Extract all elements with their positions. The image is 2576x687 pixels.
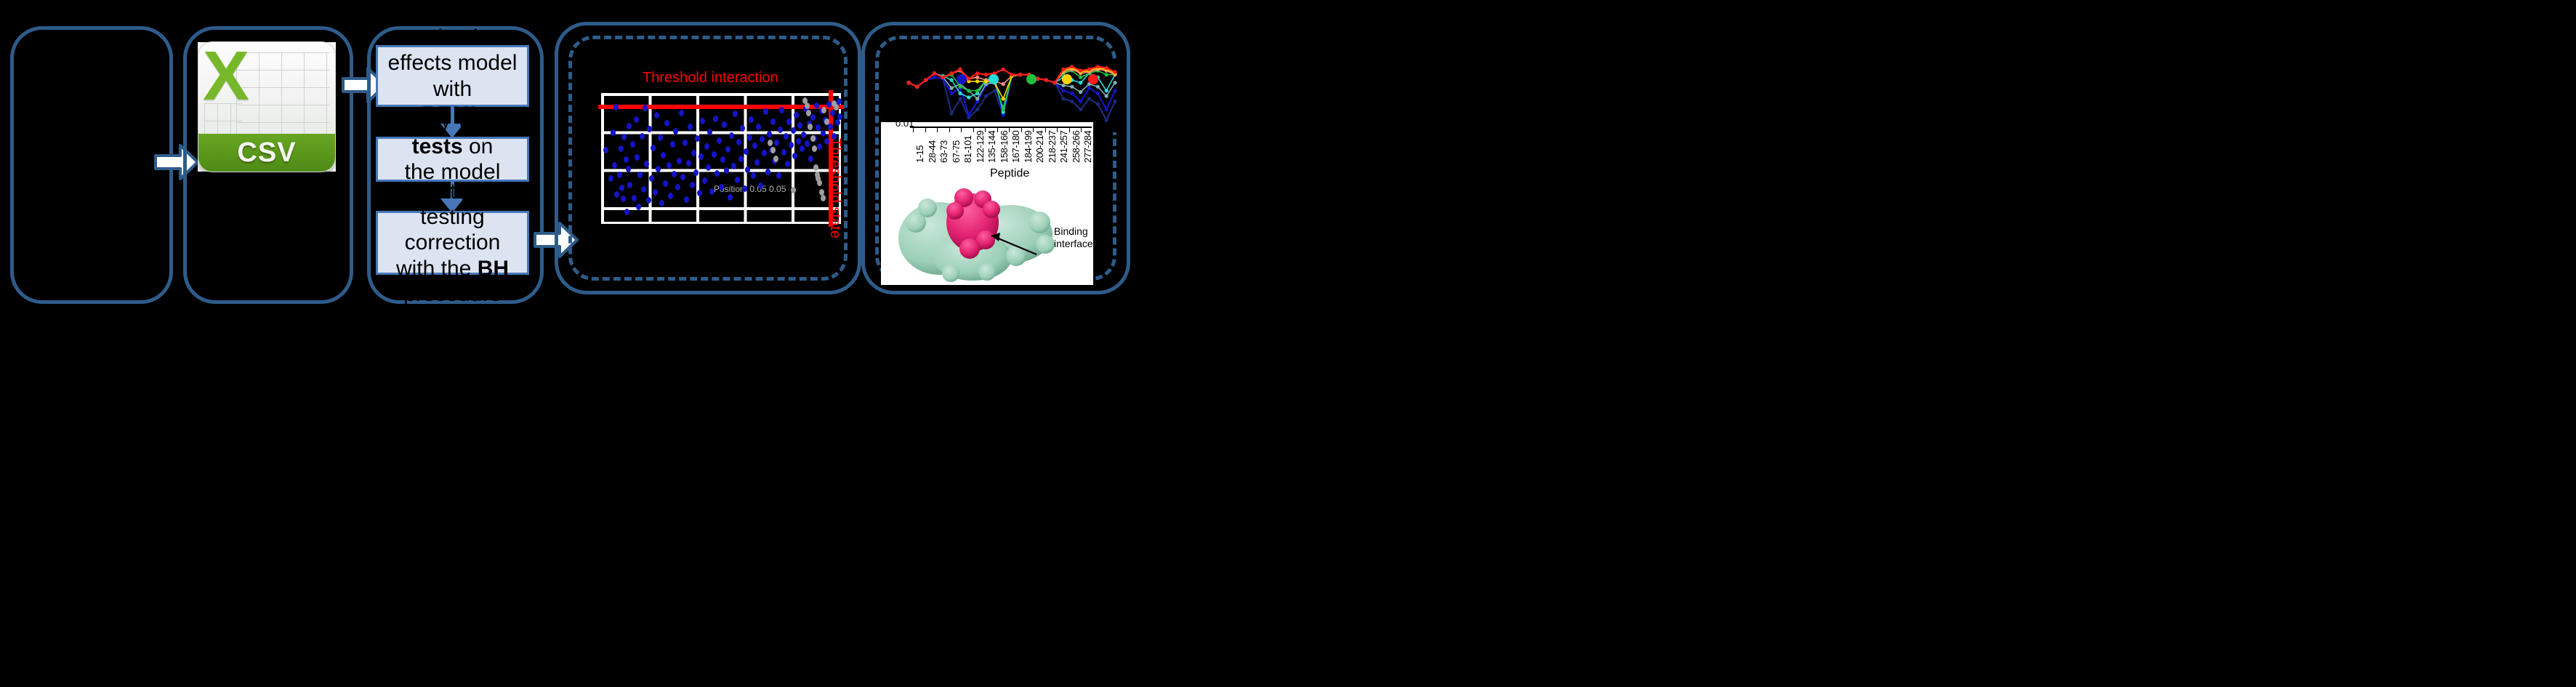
scatter-point xyxy=(791,127,796,134)
scatter-point xyxy=(728,194,733,201)
scatter-point xyxy=(656,166,661,172)
peptide-series-marker xyxy=(1105,108,1108,111)
peptide-series-marker xyxy=(915,85,919,89)
csv-file-card: X CSV xyxy=(198,42,336,172)
scatter-point xyxy=(767,131,772,137)
peptide-tick-label: 277-284 xyxy=(1082,131,1093,163)
scatter-point xyxy=(758,182,763,189)
peptide-series-marker xyxy=(967,89,970,92)
scatter-point xyxy=(712,151,717,158)
peptide-series-marker xyxy=(1061,68,1065,71)
peptide-series-marker xyxy=(984,73,988,76)
peptide-tick-label: 184-199 xyxy=(1023,131,1034,163)
peptide-series-marker xyxy=(975,71,979,75)
scatter-point xyxy=(765,169,770,175)
peptide-tick-mark xyxy=(1081,128,1082,132)
scatter-point xyxy=(614,191,619,198)
peptide-series-marker xyxy=(950,92,954,95)
peptide-tick-mark xyxy=(1021,128,1022,132)
peptide-series-marker xyxy=(975,79,979,83)
scatter-point xyxy=(659,200,664,206)
legend-dot-yellow xyxy=(1062,74,1072,84)
scatter-point xyxy=(740,125,745,132)
peptide-tick-label: 158-166 xyxy=(999,131,1010,163)
csv-x-glyph: X xyxy=(203,47,249,107)
panel-1-empty xyxy=(10,26,173,304)
scatter-point xyxy=(697,190,702,196)
scatter-point xyxy=(816,124,821,131)
peptide-series-marker xyxy=(1113,89,1116,92)
scatter-point xyxy=(627,123,632,129)
scatter-point xyxy=(691,150,696,156)
scatter-point xyxy=(613,104,619,111)
peptide-series-marker xyxy=(975,76,979,79)
scatter-point xyxy=(784,133,789,140)
peptide-tick-label: 200-214 xyxy=(1034,131,1045,163)
peptide-series-marker xyxy=(984,95,988,98)
binding-interface-line1: Binding xyxy=(1054,225,1093,238)
scatter-point xyxy=(830,110,835,116)
scatter-point xyxy=(619,185,624,191)
scatter-point xyxy=(693,169,699,176)
scatter-point xyxy=(717,137,722,144)
scatter-point xyxy=(720,156,725,163)
threshold-state-label: Threshold state xyxy=(826,138,843,238)
figure-canvas: X CSV Fit a linear mixed- effects model … xyxy=(0,0,2576,687)
scatter-point xyxy=(786,118,792,125)
peptide-series-marker xyxy=(984,79,988,83)
threshold-interaction-label: Threshold interaction xyxy=(643,70,778,87)
legend-dot-red xyxy=(1088,74,1098,84)
peptide-tick-label: 81-101 xyxy=(962,136,973,163)
peptide-series-marker xyxy=(1079,69,1082,73)
scatter-point xyxy=(670,141,675,148)
scatter-point xyxy=(824,118,829,125)
peptide-series-marker xyxy=(1105,89,1108,92)
peptide-profile-chart xyxy=(895,60,1121,132)
peptide-series-marker xyxy=(1105,66,1108,70)
peptide-series-marker xyxy=(993,89,997,92)
fit-model-box[interactable]: Fit a linear mixed- effects model with R… xyxy=(376,45,529,107)
peptide-series-marker xyxy=(933,76,936,79)
peptide-tick-label: 167-180 xyxy=(1010,131,1021,163)
peptide-series-marker xyxy=(975,108,979,111)
scatter-point xyxy=(729,132,734,139)
peptide-series-marker xyxy=(1002,97,1005,100)
peptide-series-marker xyxy=(1105,95,1108,98)
scatter-point xyxy=(808,124,813,130)
peptide-series-marker xyxy=(1079,108,1082,111)
scatter-point xyxy=(742,185,747,192)
peptide-series-marker xyxy=(1105,73,1108,76)
peptide-series-marker xyxy=(1105,118,1108,122)
peptide-tick-mark xyxy=(961,128,962,132)
binding-interface-line2: interface xyxy=(1054,238,1093,250)
peptide-series-marker xyxy=(1079,100,1082,103)
scatter-point xyxy=(792,153,797,159)
peptide-series-marker xyxy=(1070,85,1074,89)
scatter-point xyxy=(744,148,749,155)
scatter-point xyxy=(781,149,786,156)
peptide-series-marker xyxy=(967,113,970,116)
peptide-series-marker xyxy=(1045,78,1048,81)
scatter-point xyxy=(699,153,704,160)
scatter-point xyxy=(778,126,783,133)
peptide-series-marker xyxy=(1079,76,1082,79)
scatter-point xyxy=(736,139,741,145)
peptide-series-marker xyxy=(1070,92,1074,95)
peptide-series-marker xyxy=(950,78,954,81)
scatter-point xyxy=(636,204,641,210)
multiple-testing-box[interactable]: Multiple testing correction with the BH … xyxy=(376,211,529,275)
peptide-tick-label: 122-129 xyxy=(975,131,986,163)
peptide-tick-label: 258-266 xyxy=(1071,131,1082,163)
peptide-tick-mark xyxy=(937,128,938,132)
multiple-testing-text: Multiple testing correction with the BH … xyxy=(384,179,521,308)
csv-extension-band: CSV xyxy=(198,134,335,172)
peptide-series-marker xyxy=(941,76,945,79)
peptide-series-marker xyxy=(950,71,954,75)
scatter-point xyxy=(801,132,806,138)
peptide-series-marker xyxy=(1061,89,1065,92)
peptide-series-marker xyxy=(958,85,962,89)
peptide-tick-label: 218-237 xyxy=(1047,131,1058,163)
binding-interface-label: Binding interface xyxy=(1054,225,1093,250)
peptide-tick-label: 63-73 xyxy=(938,140,949,163)
scatter-point xyxy=(713,116,718,122)
peptide-series-marker xyxy=(1113,81,1116,84)
peptide-series-marker xyxy=(1096,92,1100,95)
peptide-series-marker xyxy=(1079,81,1082,84)
peptide-tick-mark xyxy=(985,128,986,132)
peptide-tick-label: 28-44 xyxy=(927,140,938,163)
peptide-series-marker xyxy=(1070,100,1074,103)
scatter-point xyxy=(735,177,740,183)
scatter-point xyxy=(621,134,627,140)
scatter-point xyxy=(747,134,752,141)
peptide-series-marker xyxy=(967,95,970,99)
peptide-tick-mark xyxy=(913,128,914,132)
x-axis-title: Peptide xyxy=(990,167,1029,180)
peptide-series-marker xyxy=(975,97,979,100)
ghost-axis-text: Position: 0.05 0.05 xyxy=(714,184,786,194)
scatter-point xyxy=(663,180,668,187)
peptide-series-marker xyxy=(1096,85,1100,89)
peptide-series-marker xyxy=(933,71,936,75)
legend-dot-green xyxy=(1026,74,1037,84)
scatter-point xyxy=(791,187,796,193)
scatter-point xyxy=(658,134,663,141)
peptide-series-marker xyxy=(1079,90,1082,94)
scatter-point xyxy=(776,172,781,179)
scatter-point xyxy=(810,135,816,142)
peptide-series-marker xyxy=(967,77,970,81)
peptide-tick-mark xyxy=(997,128,998,132)
peptide-series-marker xyxy=(1113,70,1116,73)
peptide-series-marker xyxy=(958,68,962,71)
scatter-point xyxy=(800,145,805,152)
csv-grid-right xyxy=(236,52,329,134)
scatter-point xyxy=(834,104,839,111)
csv-extension-label: CSV xyxy=(237,137,296,169)
peptide-series-marker xyxy=(950,87,954,90)
peptide-series-marker xyxy=(1002,82,1005,86)
scatter-point xyxy=(634,116,639,123)
scatter-point xyxy=(611,129,616,136)
peptide-series-marker xyxy=(1018,73,1022,76)
peptide-series-marker xyxy=(1087,87,1091,90)
peptide-series-marker xyxy=(1002,68,1005,71)
scatter-point xyxy=(754,159,760,166)
peptide-series-marker xyxy=(1002,108,1005,111)
scatter-point xyxy=(679,110,684,116)
peptide-series-marker xyxy=(924,78,927,81)
peptide-series-line xyxy=(909,75,1115,115)
peptide-series-marker xyxy=(1087,68,1091,71)
peptide-tick-mark xyxy=(925,128,926,132)
scatter-point xyxy=(731,163,736,169)
peptide-series-marker xyxy=(975,89,979,92)
scatter-point xyxy=(724,167,729,174)
peptide-series-marker xyxy=(906,81,910,84)
scatter-point xyxy=(719,184,724,190)
peptide-tick-mark xyxy=(1009,128,1010,132)
scatter-point xyxy=(751,172,756,179)
peptide-series-marker xyxy=(950,111,954,115)
peptide-tick-mark xyxy=(1069,128,1070,132)
scatter-point xyxy=(667,162,672,169)
peptide-series-marker xyxy=(1061,97,1065,100)
scatter-point xyxy=(835,119,840,126)
csv-file-icon: X CSV xyxy=(198,41,336,172)
volcano-scatter-plot: Position: 0.05 0.05 xyxy=(601,93,841,224)
peptide-series-marker xyxy=(1070,65,1074,68)
peptide-series-marker xyxy=(1113,100,1116,103)
peptide-series-marker xyxy=(1053,81,1057,84)
peptide-series-marker xyxy=(958,92,962,95)
peptide-series-marker xyxy=(1096,65,1100,68)
scatter-point xyxy=(624,209,629,215)
protein-surface-render xyxy=(894,182,1061,284)
peptide-tick-mark xyxy=(973,128,974,132)
scatter-point xyxy=(630,141,635,148)
peptide-tick-label: 67-75 xyxy=(951,140,962,163)
peptide-axis-and-structure-card: 0.01 1-1528-4463-7367-7581-101122-129135… xyxy=(881,122,1093,285)
peptide-tick-mark xyxy=(1057,128,1058,132)
peptide-tick-mark xyxy=(949,128,950,132)
scatter-point xyxy=(706,164,711,171)
peptide-tick-label: 135-144 xyxy=(986,131,997,163)
scatter-point xyxy=(814,103,819,109)
scatter-point xyxy=(837,113,842,120)
scatter-point xyxy=(641,186,646,193)
peptide-series-marker xyxy=(958,97,962,100)
peptide-series-marker xyxy=(1096,103,1100,106)
peptide-series-marker xyxy=(1087,97,1091,100)
scatter-point xyxy=(789,142,794,148)
scatter-point xyxy=(709,188,715,195)
scatter-point xyxy=(640,133,645,140)
legend-dot-cyan xyxy=(989,74,999,84)
legend-dot-navy xyxy=(957,74,967,84)
scatter-point xyxy=(794,112,799,118)
scatter-point xyxy=(686,160,691,166)
wald-tests-box[interactable]: Apply Wald tests on the model parameters xyxy=(376,137,529,182)
scatter-point xyxy=(738,156,744,162)
scatter-point xyxy=(617,172,622,178)
peptide-series-marker xyxy=(1010,73,1013,76)
scatter-point xyxy=(796,138,801,145)
scatter-point xyxy=(653,189,658,196)
scatter-point xyxy=(649,175,654,182)
scatter-point xyxy=(810,114,816,121)
scatter-point xyxy=(774,140,779,146)
peptide-tick-label: 1-15 xyxy=(914,145,925,163)
scatter-point xyxy=(813,164,818,171)
peptide-tick-label: 241-257 xyxy=(1058,131,1069,163)
scatter-point xyxy=(664,120,669,126)
peptide-tick-mark xyxy=(1045,128,1046,132)
scatter-point xyxy=(690,182,695,188)
peptide-tick-mark xyxy=(1033,128,1034,132)
